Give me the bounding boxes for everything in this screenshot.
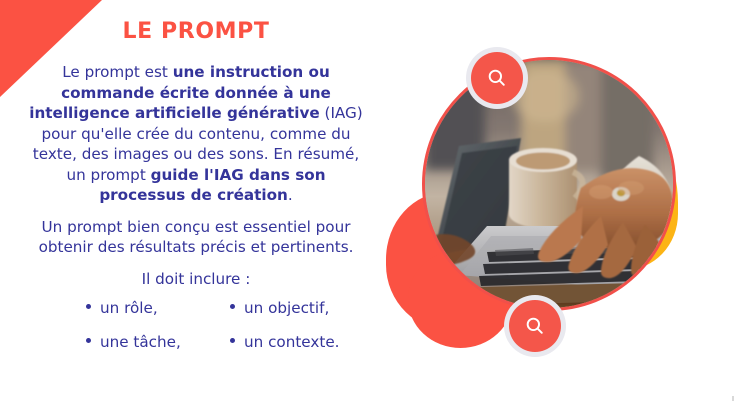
bullet-dot-icon: [86, 304, 91, 309]
text-column: LE PROMPT Le prompt est une instruction …: [18, 20, 374, 353]
bullet-dot-icon: [86, 338, 91, 343]
search-icon: [524, 315, 546, 337]
graphic-panel: [378, 0, 738, 404]
photo-illustration: [425, 60, 673, 308]
search-icon: [486, 67, 508, 89]
list-item: un objectif,: [206, 299, 374, 319]
bullet-dot-icon: [230, 338, 235, 343]
slide-canvas: LE PROMPT Le prompt est une instruction …: [0, 0, 738, 404]
bullet-dot-icon: [230, 304, 235, 309]
search-badge-top[interactable]: [466, 47, 528, 109]
paragraph-end: .: [288, 186, 293, 204]
photo-hands-typing-laptop: [425, 60, 673, 308]
list-item-label: une tâche,: [100, 333, 181, 353]
page-title: LE PROMPT: [18, 20, 374, 44]
paragraph-must-include: Il doit inclure :: [18, 269, 374, 290]
list-item: une tâche,: [38, 333, 206, 353]
circular-photo-frame: [422, 57, 676, 311]
search-badge-bottom-circle: [509, 300, 561, 352]
list-item: un rôle,: [38, 299, 206, 319]
paragraph-lead: Le prompt est: [62, 63, 172, 81]
corner-artifact-mark: [732, 396, 734, 401]
list-item-label: un contexte.: [244, 333, 340, 353]
list-item: un contexte.: [206, 333, 374, 353]
search-badge-top-circle: [471, 52, 523, 104]
paragraph-essential: Un prompt bien conçu est essentiel pour …: [18, 217, 374, 258]
bullet-list: un rôle, un objectif, une tâche, un cont…: [18, 299, 374, 353]
paragraph-definition: Le prompt est une instruction ou command…: [18, 62, 374, 206]
list-item-label: un rôle,: [100, 299, 158, 319]
list-item-label: un objectif,: [244, 299, 329, 319]
search-badge-bottom[interactable]: [504, 295, 566, 357]
